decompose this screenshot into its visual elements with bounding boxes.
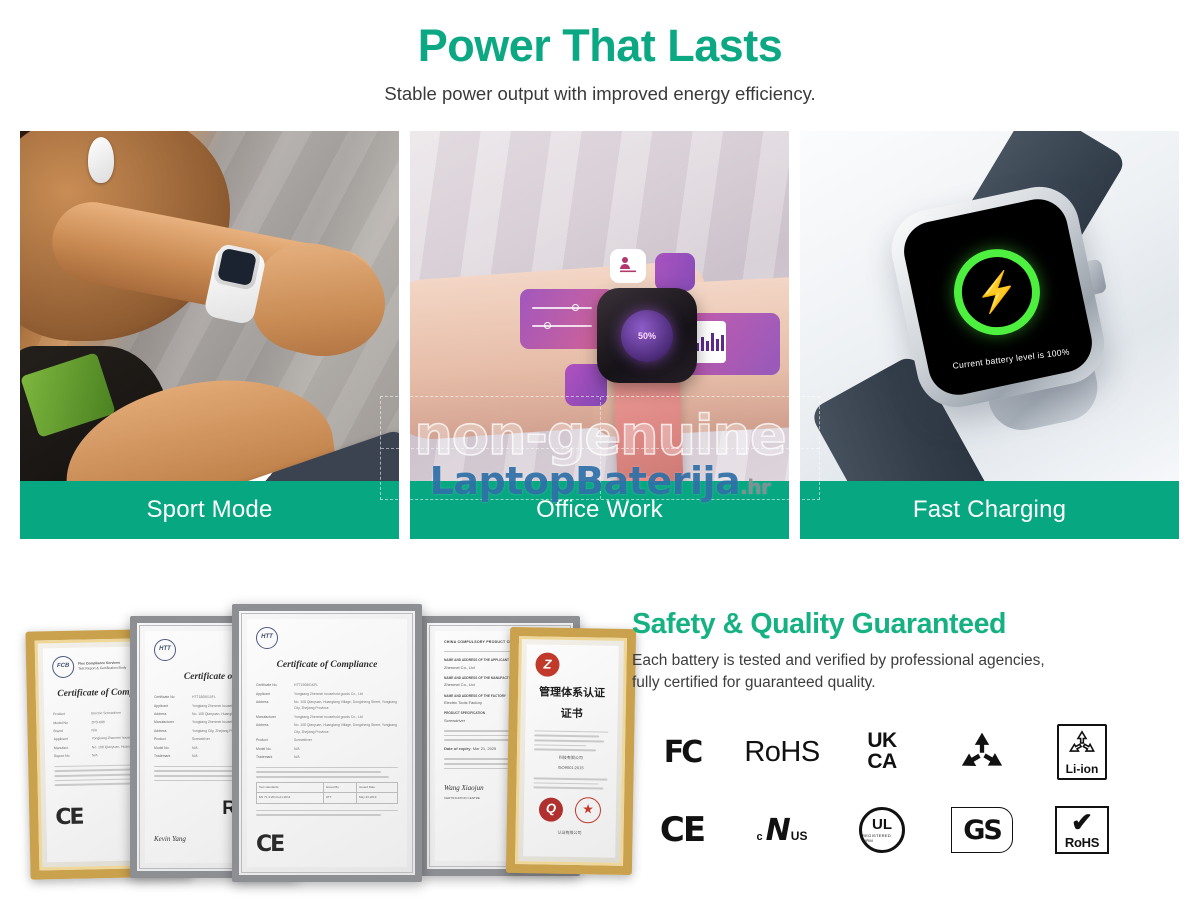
cert-field-key: Date of expiry <box>444 746 470 751</box>
cert-field-value: 科技有限公司 <box>534 753 608 762</box>
cul-us-icon: c N US <box>757 813 808 848</box>
fcb-logo-icon: FCB <box>52 656 74 678</box>
red-star-stamp-icon: ★ <box>575 797 601 823</box>
htt-logo-icon: HTT <box>256 627 278 649</box>
cert-issuer-line: Flex Compliance Services <box>78 661 120 666</box>
feature-card-row: Sport Mode <box>20 131 1180 539</box>
ce-icon: CE <box>660 810 704 850</box>
cul-us-badge: c N US <box>732 813 832 848</box>
earbud-icon <box>88 137 114 183</box>
recycle-badge <box>932 731 1032 773</box>
certificate-iso-cn: Z 管理体系认证证书 科技有限公司 ISO9001:2015 Q ★ 认证有限公… <box>506 627 636 875</box>
htt-logo-icon: HTT <box>154 639 176 661</box>
person-icon <box>618 255 638 275</box>
certification-badge-grid: FC RoHS UK CA <box>632 713 1132 869</box>
certificate-heading: Certificate of Compliance <box>256 656 398 674</box>
cert-issuer-line: CERTIFICATION CENTRE <box>444 796 484 802</box>
ul-registered-badge: UL REGISTERED FIRM <box>832 807 932 853</box>
battery-percent-label: 50% <box>638 331 656 341</box>
badge-row-1: FC RoHS UK CA <box>632 713 1132 791</box>
lightning-bolt-icon: ⚡ <box>971 270 1022 315</box>
fcc-badge: FC <box>632 735 732 770</box>
recycle-outline-icon <box>1067 730 1097 756</box>
signature: Wang Xiaojun <box>444 782 484 795</box>
safety-section: Safety & Quality Guaranteed Each battery… <box>632 608 1180 694</box>
page-subtitle: Stable power output with improved energy… <box>0 83 1200 105</box>
hero-section: Power That Lasts Stable power output wit… <box>0 0 1200 105</box>
bottom-section: FCB Flex Compliance Services Test Report… <box>0 588 1200 900</box>
ce-mark: CE <box>256 824 398 866</box>
ce-badge: CE <box>632 810 732 850</box>
feature-card-caption: Sport Mode <box>20 481 399 539</box>
z-logo-icon: Z <box>535 652 559 676</box>
ce-mark: CE <box>55 796 83 838</box>
cert-field-value: No. 108 Qianyuan, Huangtang Village, Don… <box>294 699 398 712</box>
cert-field-value: Screwdriver <box>294 737 398 743</box>
gs-badge: GS <box>932 807 1032 853</box>
check-icon: ✔ <box>1065 811 1099 834</box>
sport-mode-photo <box>20 131 399 481</box>
fast-charging-photo: ⚡ Current battery level is 100% <box>800 131 1179 481</box>
bar-chart-icon <box>696 331 724 351</box>
li-ion-label: Li-ion <box>1066 762 1099 776</box>
fcc-icon: FC <box>664 735 701 770</box>
recycle-icon <box>959 731 1005 773</box>
cert-field-value: N/A <box>294 754 398 760</box>
smartwatch-case: ⚡ Current battery level is 100% <box>884 179 1111 414</box>
cert-field-value: No. 108 Qianyuan, Huangtang Village, Don… <box>294 722 398 735</box>
safety-line-1: Each battery is tested and verified by p… <box>632 652 1045 669</box>
office-work-photo: 50% <box>410 131 789 481</box>
cul-us: US <box>791 829 808 843</box>
badge-row-2: CE c N US UL REGISTERED FIRM GS <box>632 791 1132 869</box>
ul-sub: REGISTERED FIRM <box>862 833 902 843</box>
smartwatch-face: 50% <box>597 288 697 383</box>
quality-seal-icon: Q <box>539 797 563 821</box>
ukca-top: UK <box>867 729 896 752</box>
charging-ring-icon: ⚡ <box>946 241 1048 343</box>
certificates-collage: FCB Flex Compliance Services Test Report… <box>20 598 600 888</box>
cert-field-value: Yongkang Zhenmei household goods Co., Lt… <box>294 714 398 720</box>
safety-title: Safety & Quality Guaranteed <box>632 608 1180 641</box>
cul-c: c <box>757 831 763 843</box>
rohs-box-label: RoHS <box>1065 835 1099 850</box>
rohs-badge: RoHS <box>732 736 832 769</box>
feature-card-fast-charging[interactable]: ⚡ Current battery level is 100% Fast Cha… <box>800 131 1179 539</box>
feature-card-sport-mode[interactable]: Sport Mode <box>20 131 399 539</box>
ul-label: UL <box>872 817 892 832</box>
cert-field-value: ISO9001:2015 <box>534 764 608 773</box>
feature-card-caption: Office Work <box>410 481 789 539</box>
battery-dial: 50% <box>621 310 673 362</box>
battery-level-text: Current battery level is 100% <box>928 344 1094 374</box>
ukca-icon: UK CA <box>867 731 896 772</box>
cul-n: N <box>766 813 788 848</box>
certificate-htt-2: HTT Certificate of Compliance Certificat… <box>232 604 422 882</box>
feature-card-office-work[interactable]: 50% Office Work <box>410 131 789 539</box>
li-ion-badge: Li-ion <box>1032 724 1132 780</box>
cert-field-value: Mar 21, 2025 <box>473 746 497 751</box>
product-infographic-page: Power That Lasts Stable power output wit… <box>0 0 1200 900</box>
page-title: Power That Lasts <box>0 22 1200 69</box>
ui-card-checklist <box>655 253 695 291</box>
ul-icon: UL REGISTERED FIRM <box>859 807 905 853</box>
feature-card-caption: Fast Charging <box>800 481 1179 539</box>
rohs-box-icon: ✔ RoHS <box>1055 806 1109 853</box>
ukca-bottom: CA <box>867 750 896 773</box>
cert-issuer-line: 认证有限公司 <box>533 828 607 837</box>
cert-field-value: HTT190801KFL <box>294 682 398 688</box>
rohs-check-badge: ✔ RoHS <box>1032 806 1132 853</box>
cert-field-value: N/A <box>294 746 398 752</box>
safety-line-2: fully certified for guaranteed quality. <box>632 674 876 691</box>
certificate-heading: 管理体系认证证书 <box>534 682 609 725</box>
cert-field-value: Yongkang Zhenmei household goods Co., Lt… <box>294 691 398 697</box>
ukca-badge: UK CA <box>832 731 932 772</box>
safety-description: Each battery is tested and verified by p… <box>632 650 1180 694</box>
gs-icon: GS <box>951 807 1013 853</box>
rohs-icon: RoHS <box>744 736 819 769</box>
